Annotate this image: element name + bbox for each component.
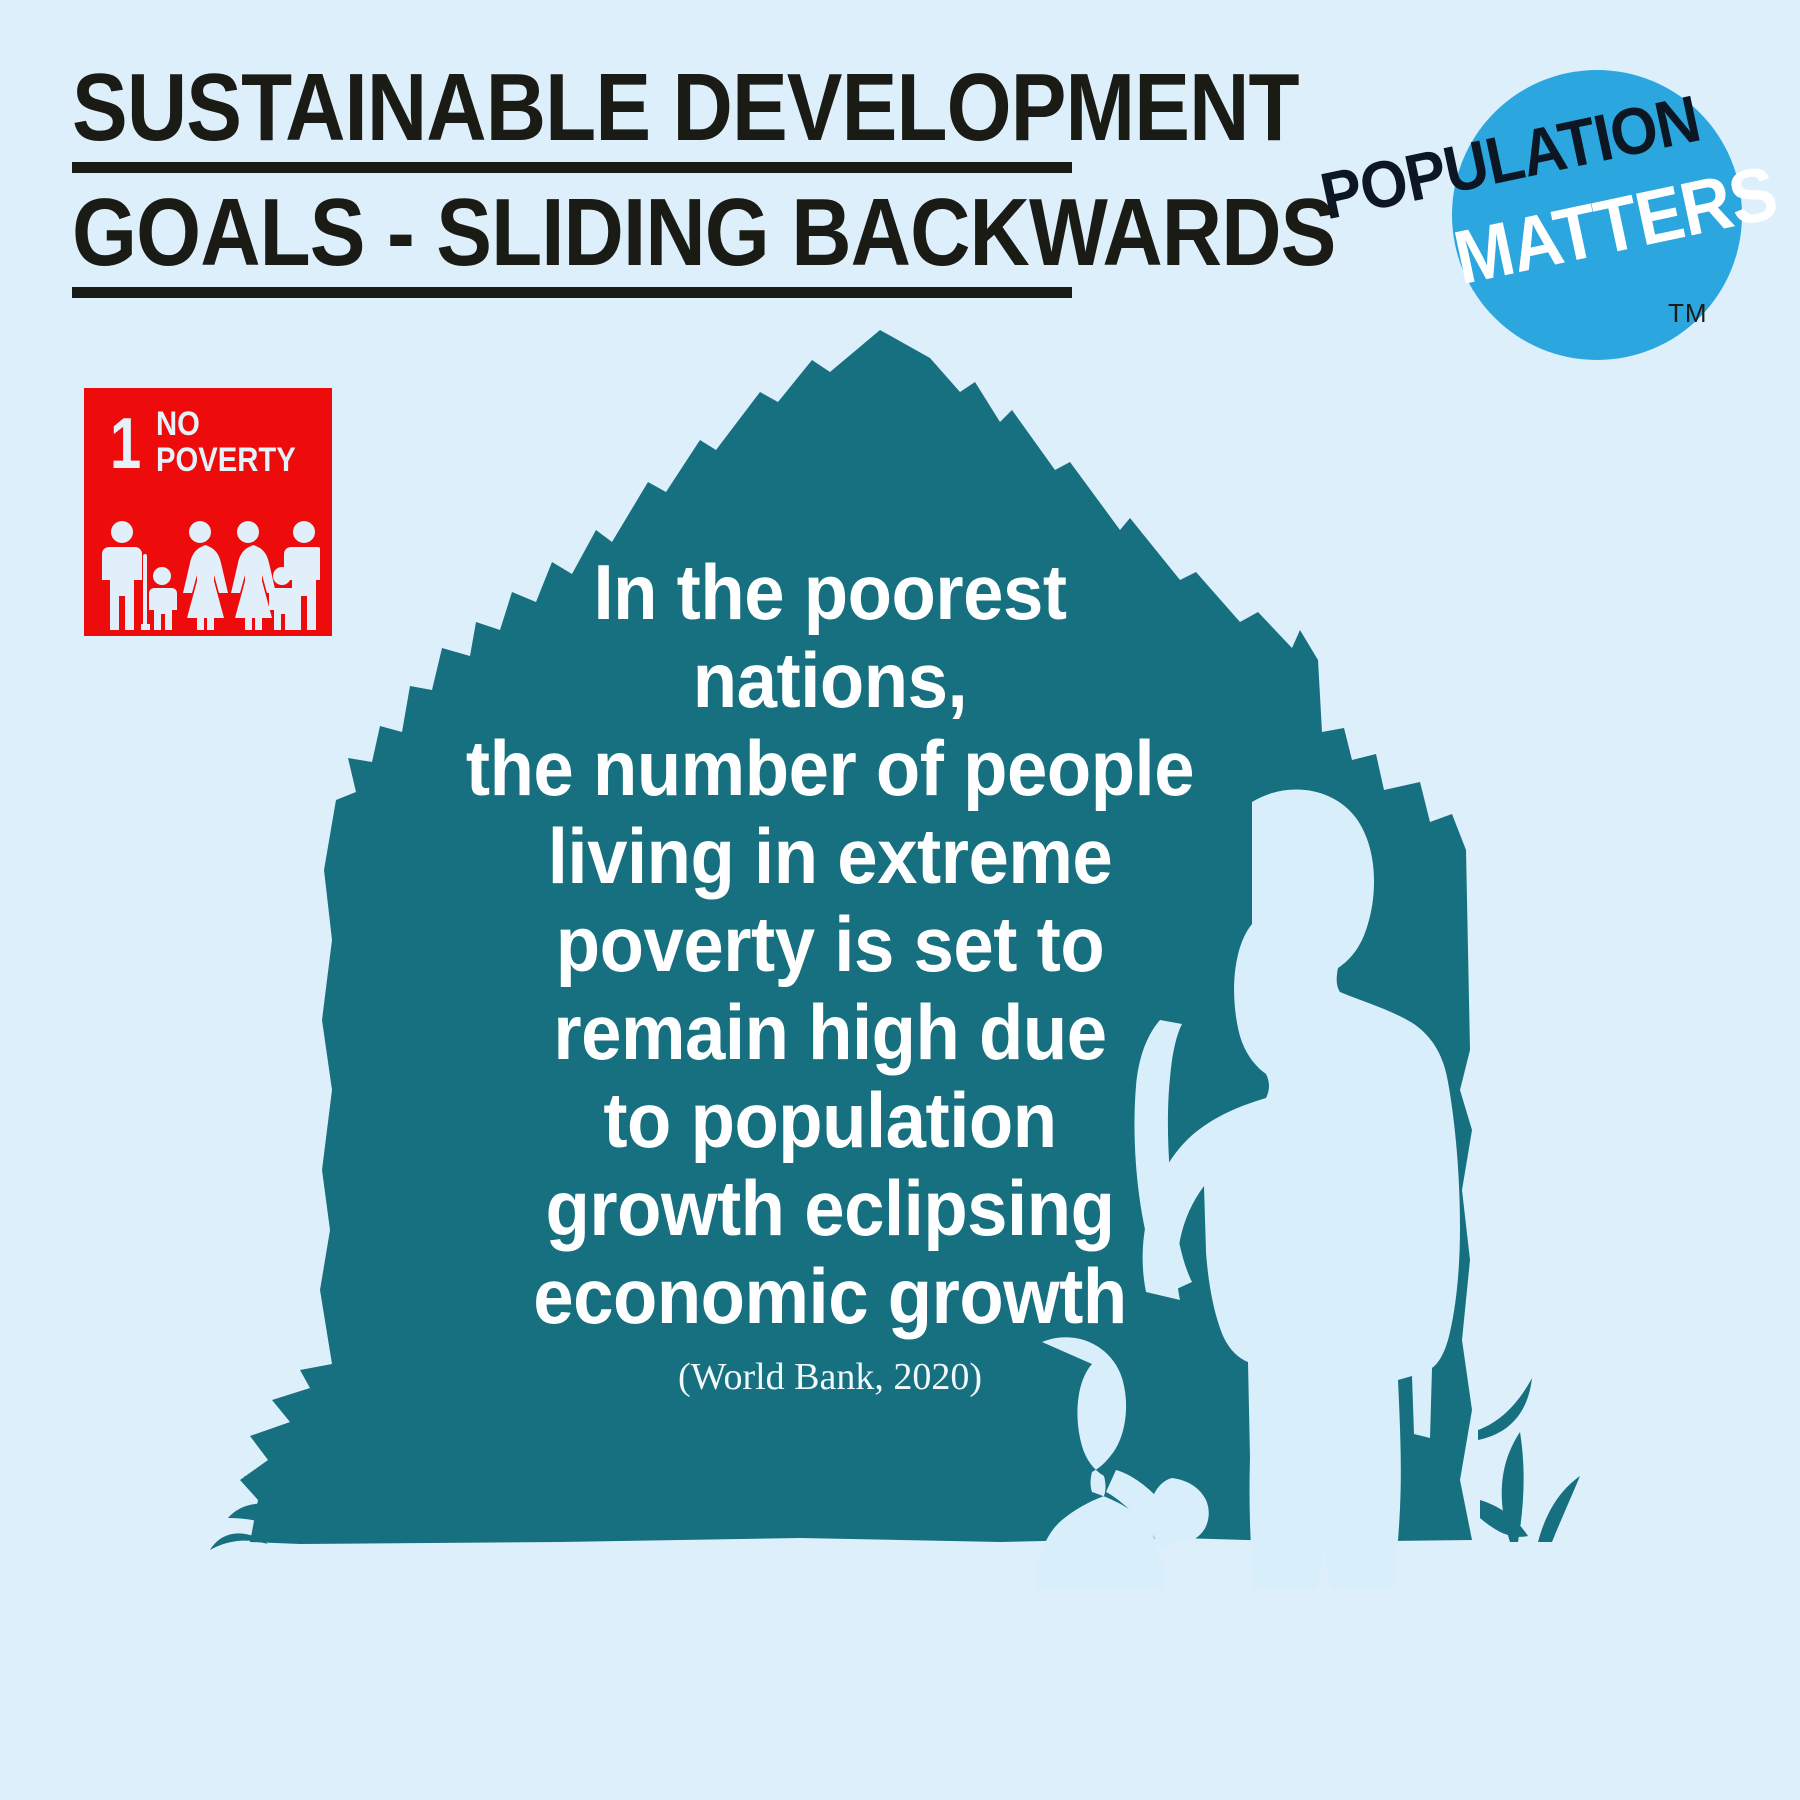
title-underline-2: [72, 287, 1072, 298]
title-line-2: GOALS - SLIDING BACKWARDS: [72, 183, 1012, 283]
page-title: SUSTAINABLE DEVELOPMENT GOALS - SLIDING …: [72, 58, 1152, 308]
tent-illustration: [0, 330, 1800, 1590]
title-line-1: SUSTAINABLE DEVELOPMENT: [72, 58, 1012, 158]
poster-canvas: SUSTAINABLE DEVELOPMENT GOALS - SLIDING …: [0, 0, 1800, 1800]
title-underline-1: [72, 162, 1072, 173]
tent-shape-svg: [0, 330, 1800, 1590]
trademark-symbol: TM: [1668, 298, 1708, 329]
population-matters-logo[interactable]: POPULATION MATTERS TM: [1262, 42, 1762, 352]
grass-tufts-right: [1478, 1378, 1580, 1542]
